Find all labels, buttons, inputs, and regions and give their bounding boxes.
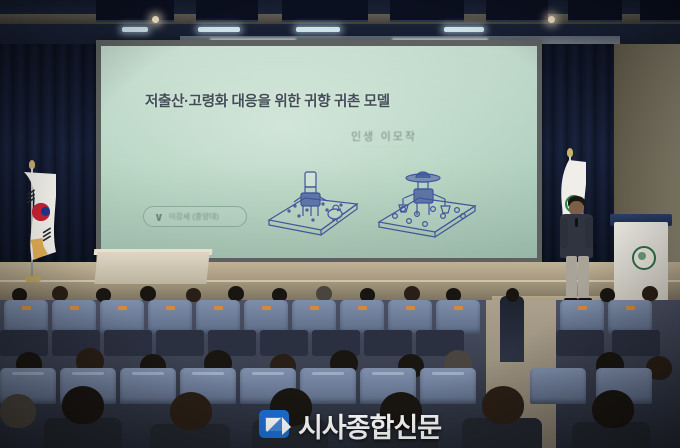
ceiling-baffle	[640, 0, 680, 22]
seat-number-tag	[118, 306, 127, 310]
ceiling-baffle	[486, 0, 548, 22]
draped-table	[94, 252, 209, 284]
attendee-head	[482, 386, 524, 424]
ceiling-baffle	[196, 0, 258, 22]
seat-highlight	[72, 372, 104, 375]
flag-cloth	[22, 172, 56, 260]
attendee-head	[316, 286, 332, 301]
seat-number-tag	[262, 306, 271, 310]
ceiling-baffle	[568, 0, 622, 22]
microphone	[575, 218, 578, 227]
seat-highlight	[432, 372, 464, 375]
attendee-head	[140, 286, 156, 301]
seat-highlight	[12, 372, 44, 375]
attendee-head	[52, 286, 68, 301]
ceiling-baffle	[390, 0, 464, 22]
seat-back[interactable]	[104, 330, 152, 356]
seat-number-tag	[70, 306, 79, 310]
attendee-head	[592, 390, 634, 428]
projected-slide: 저출산·고령화 대응을 위한 귀향 귀촌 모델 인생 이모작 ·········…	[101, 46, 537, 258]
ceiling-light	[122, 27, 148, 32]
standing-attendee-head	[506, 288, 519, 302]
seat-number-tag	[626, 306, 635, 310]
speaker-leg-right	[578, 256, 589, 300]
seat-number-tag	[310, 306, 319, 310]
seat-number-tag	[358, 306, 367, 310]
seat-number-tag	[214, 306, 223, 310]
seat-highlight	[372, 372, 404, 375]
speaker-leg-left	[566, 256, 577, 300]
ceiling-light	[444, 27, 484, 32]
ceiling-downlight	[152, 16, 159, 23]
watermark: 시사종합신문	[258, 406, 441, 445]
speaker-arm-right	[585, 218, 593, 248]
flag-stand	[25, 276, 41, 282]
seat-number-tag	[22, 306, 31, 310]
speaker-arm-left	[560, 218, 568, 248]
seat-back[interactable]	[556, 330, 604, 356]
attendee-head	[228, 286, 244, 301]
seat-number-tag	[406, 306, 415, 310]
seat-highlight	[252, 372, 284, 375]
seat-number-tag	[454, 306, 463, 310]
standing-attendee	[500, 296, 524, 362]
news-book-logo-icon	[258, 409, 294, 443]
attendee-head	[642, 286, 658, 301]
ceiling-light	[296, 27, 340, 32]
seat-number-tag	[166, 306, 175, 310]
attendee-head	[404, 286, 420, 301]
seat-highlight	[312, 372, 344, 375]
seat-back[interactable]	[612, 330, 660, 356]
seat-back[interactable]	[156, 330, 204, 356]
watermark-text: 시사종합신문	[298, 406, 441, 445]
attendee-head	[0, 394, 36, 428]
projection-glow	[101, 46, 537, 258]
attendee-head	[170, 392, 212, 430]
ceiling-downlight	[548, 16, 555, 23]
ceiling-baffle	[282, 0, 368, 22]
seat-highlight	[192, 372, 224, 375]
ceiling-baffle	[96, 0, 174, 22]
seat-back[interactable]	[364, 330, 412, 356]
ceiling-light	[198, 27, 240, 32]
photo-scene: 저출산·고령화 대응을 위한 귀향 귀촌 모델 인생 이모작 ·········…	[0, 0, 680, 448]
seat[interactable]	[530, 368, 586, 404]
institution-emblem	[632, 246, 656, 270]
seat-number-tag	[578, 306, 587, 310]
seat-back[interactable]	[260, 330, 308, 356]
seat-highlight	[132, 372, 164, 375]
attendee-head	[62, 386, 104, 424]
